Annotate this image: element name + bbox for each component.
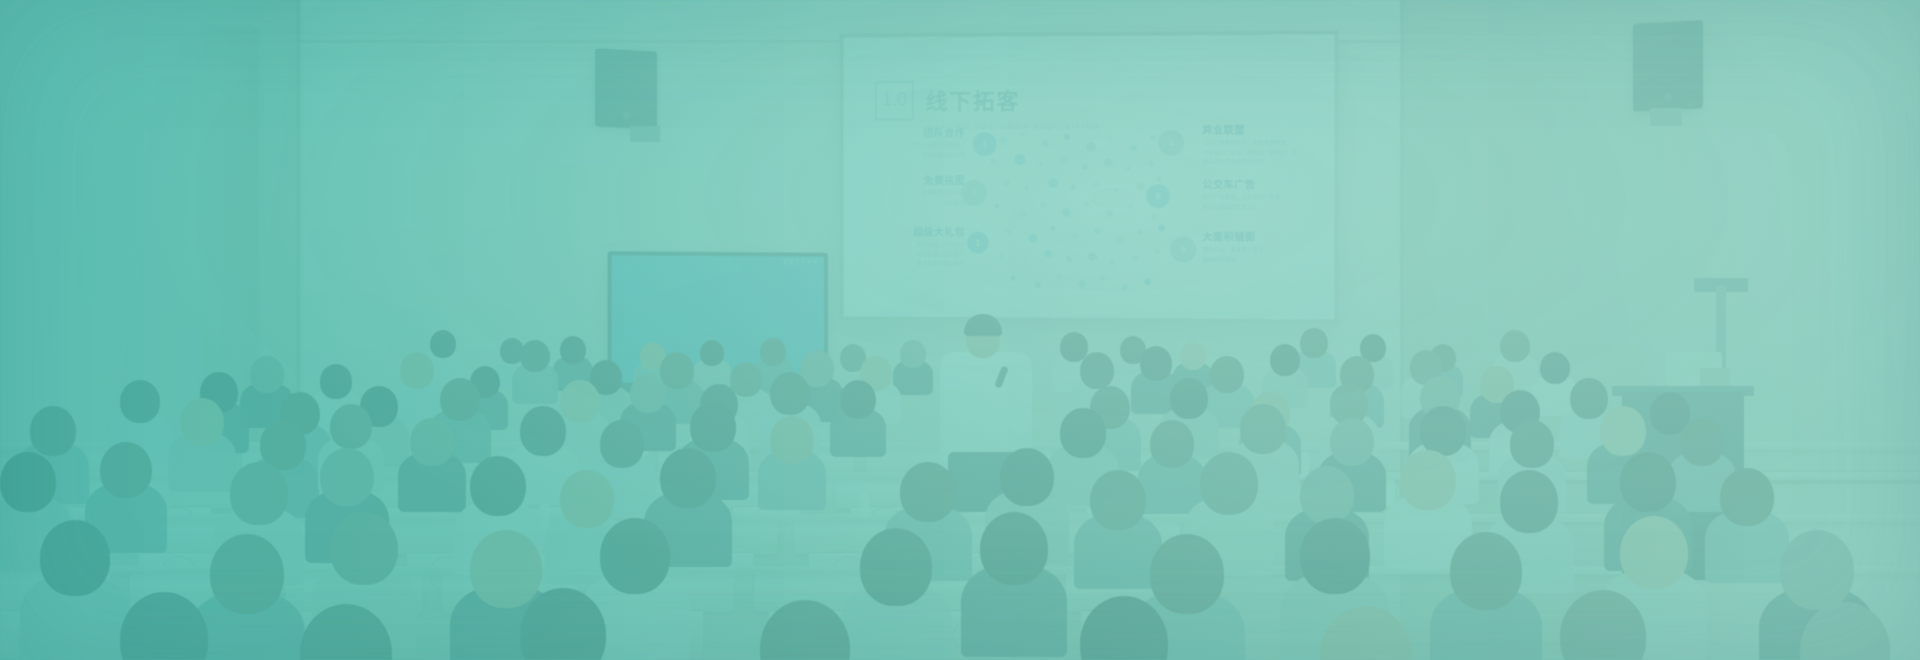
audience-head [860, 528, 932, 606]
audience-member [1720, 468, 1774, 581]
audience-head [1500, 330, 1530, 362]
audience-member [400, 352, 434, 423]
audience-head [230, 462, 288, 525]
audience-member [700, 340, 724, 390]
audience-head [1270, 344, 1300, 376]
audience-head [560, 336, 586, 364]
audience-head [1620, 516, 1688, 589]
audience-member [1540, 352, 1570, 415]
projection-screen: 1.0 线下拓客 OFFLINE CUSTOMER ACQUISITION 团队… [844, 34, 1335, 319]
audience-head [520, 340, 550, 372]
audience-head [520, 588, 606, 660]
audience-head [900, 340, 926, 368]
audience-head [1600, 406, 1646, 456]
audience-head [300, 604, 392, 660]
audience-member [1400, 450, 1456, 568]
audience-head [770, 416, 814, 464]
audience-head [30, 406, 76, 456]
speaker-mount-right [1650, 108, 1682, 126]
audience-head [400, 352, 434, 389]
audience-head [560, 380, 600, 423]
audience-head [180, 398, 224, 446]
audience-head [1680, 418, 1724, 466]
audience-head [520, 406, 566, 456]
audience-head [630, 374, 666, 413]
audience-head [1170, 378, 1208, 419]
audience-head [1200, 452, 1258, 515]
audience-head [600, 518, 670, 594]
audience-head [1320, 606, 1412, 660]
audience-head [1180, 342, 1206, 370]
audience-head [1510, 420, 1554, 468]
seminar-photo: 1.0 线下拓客 OFFLINE CUSTOMER ACQUISITION 团队… [0, 0, 1920, 660]
audience-member [1080, 596, 1168, 660]
audience-head [1090, 470, 1146, 530]
audience-head [120, 380, 160, 423]
audience-member [1450, 532, 1522, 660]
audience-head [320, 448, 374, 506]
audience-head [1800, 602, 1890, 660]
audience-head [840, 380, 876, 419]
audience-head [690, 402, 736, 452]
audience-member [900, 340, 926, 395]
audience-head [330, 512, 398, 585]
audience-head [1780, 530, 1854, 610]
audience-head [1300, 328, 1328, 358]
audience-head [1300, 466, 1354, 524]
screen-glare [844, 34, 1335, 319]
audience-member [980, 512, 1048, 655]
audience-head [1720, 468, 1774, 526]
audience-head [1210, 356, 1244, 393]
audience-head [1300, 518, 1370, 594]
audience-head [660, 448, 716, 508]
wall-speaker-right-icon [1633, 20, 1703, 112]
audience-head [1000, 448, 1054, 506]
audience-member [600, 518, 670, 660]
audience-head [1080, 596, 1168, 660]
audience-member [520, 340, 550, 403]
audience-head [1080, 352, 1114, 389]
audience-head [700, 340, 724, 366]
screenshot-root: 1.0 线下拓客 OFFLINE CUSTOMER ACQUISITION 团队… [0, 0, 1920, 660]
audience-member [1150, 420, 1194, 512]
audience-head [470, 456, 526, 516]
audience-member [1140, 346, 1172, 413]
wall-speaker-left-icon [595, 48, 657, 129]
audience-member [1090, 470, 1146, 588]
audience-head [440, 378, 480, 421]
audience-head [600, 420, 644, 468]
audience-member [300, 604, 392, 660]
audience-head [1140, 346, 1172, 381]
audience-member [860, 528, 932, 660]
audience-head [1150, 420, 1194, 468]
audience-member [1680, 418, 1724, 510]
speaker-mount-left [630, 126, 660, 142]
audience-member [180, 398, 224, 490]
audience-head [40, 520, 110, 596]
audience-head [1420, 406, 1466, 456]
audience-member [840, 380, 876, 456]
audience-member [210, 534, 284, 660]
audience-head [1060, 408, 1106, 458]
audience-head [760, 600, 850, 660]
audience-head [330, 404, 372, 449]
audience-member [1800, 602, 1890, 660]
audience-head [760, 338, 786, 366]
audience-head [0, 452, 56, 512]
audience-member [1320, 606, 1412, 660]
audience-head [1540, 352, 1570, 384]
audience-head [1330, 418, 1374, 466]
audience-member [40, 520, 110, 660]
water-bottle [860, 492, 869, 518]
audience-head [980, 512, 1048, 585]
display-brand-label: 智能交互平板 [783, 258, 818, 265]
audience-head [770, 372, 810, 415]
audience-head [900, 462, 956, 522]
audience-member [250, 356, 284, 427]
audience-head [1620, 452, 1676, 512]
audience-head [120, 592, 208, 660]
audience-head [1400, 450, 1456, 510]
audience-head [320, 364, 352, 399]
audience-head [100, 442, 152, 498]
audience-member [120, 592, 208, 660]
audience-member [760, 600, 850, 660]
audience-member [410, 418, 454, 510]
audience-head [1240, 404, 1286, 454]
audience-head [250, 356, 284, 393]
audience-head [410, 418, 454, 466]
audience-member [1560, 590, 1646, 660]
audience-head [1500, 470, 1558, 533]
audience-head [1560, 590, 1646, 660]
audience-head [210, 534, 284, 614]
audience-member [770, 416, 814, 508]
audience-member [520, 588, 606, 660]
audience-head [1450, 532, 1522, 610]
